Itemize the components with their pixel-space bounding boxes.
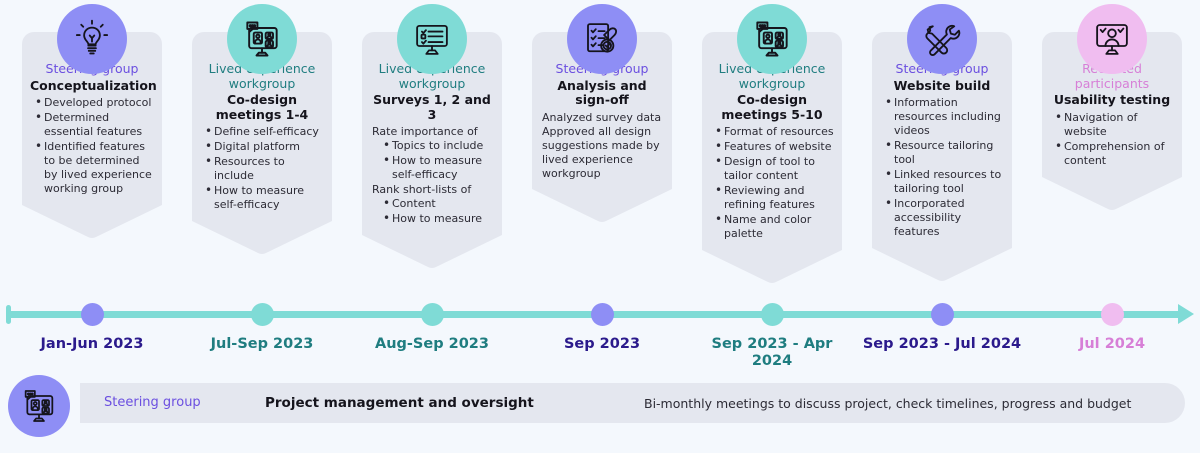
- stage-card-pointer: [192, 217, 332, 255]
- stage-lead-text-2: Rank short-lists of: [372, 183, 494, 197]
- list-item: Design of tool to tailor content: [724, 155, 834, 183]
- list-item: Linked resources to tailoring tool: [894, 168, 1004, 196]
- list-item: How to measure self-efficacy: [214, 184, 324, 212]
- stage-title: Analysis and sign-off: [540, 79, 664, 108]
- list-item: Information resources including videos: [894, 96, 1004, 138]
- stage-card-pointer: [22, 201, 162, 239]
- axis-dot-3: [421, 303, 444, 326]
- stage-1: Steering groupConceptualizationDeveloped…: [22, 0, 162, 300]
- stage-7: Recruited participantsUsability testingN…: [1042, 0, 1182, 300]
- date-label-5: Sep 2023 - Apr 2024: [692, 336, 852, 370]
- stage-cards-row: Steering groupConceptualizationDeveloped…: [0, 0, 1200, 300]
- list-item: Resources to include: [214, 155, 324, 183]
- list-item: Digital platform: [214, 140, 324, 154]
- stage-6: Steering groupWebsite buildInformation r…: [872, 0, 1012, 300]
- axis-dot-4: [591, 303, 614, 326]
- project-timeline-diagram: Steering groupConceptualizationDeveloped…: [0, 0, 1200, 453]
- stage-card-pointer: [872, 244, 1012, 282]
- stage-title: Conceptualization: [30, 79, 154, 94]
- timeline-axis: [0, 300, 1200, 328]
- tools-icon: [907, 4, 977, 74]
- checklist-monitor-icon: [397, 4, 467, 74]
- list-item: Determined essential features: [44, 111, 154, 139]
- stage-card-pointer: [702, 246, 842, 284]
- axis-dot-1: [81, 303, 104, 326]
- stage-5: Lived experience workgroupCo-design meet…: [702, 0, 842, 300]
- user-monitor-icon: [1077, 4, 1147, 74]
- video-meeting-icon: [737, 4, 807, 74]
- stage-4: Steering groupAnalysis and sign-offAnaly…: [532, 0, 672, 300]
- stage-title: Usability testing: [1050, 93, 1174, 108]
- list-item: Identified features to be determined by …: [44, 140, 154, 196]
- list-item: Name and color palette: [724, 213, 834, 241]
- stage-2: Lived experience workgroupCo-design meet…: [192, 0, 332, 300]
- date-label-1: Jan-Jun 2023: [12, 336, 172, 353]
- list-item: Features of website: [724, 140, 834, 154]
- stage-title: Co-design meetings 5-10: [710, 93, 834, 122]
- date-label-6: Sep 2023 - Jul 2024: [862, 336, 1022, 353]
- list-item: How to measure self-efficacy: [392, 154, 494, 182]
- date-label-2: Jul-Sep 2023: [182, 336, 342, 353]
- list-item: Developed protocol: [44, 96, 154, 110]
- axis-arrow-head: [1178, 304, 1194, 324]
- stage-title: Surveys 1, 2 and 3: [370, 93, 494, 122]
- date-label-4: Sep 2023: [522, 336, 682, 353]
- stage-lead-text: Approved all design suggestions made by …: [542, 125, 664, 181]
- stage-bullet-list: Topics to includeHow to measure self-eff…: [370, 139, 494, 182]
- list-item: Content: [392, 197, 494, 211]
- footer-title: Project management and oversight: [265, 395, 534, 411]
- lightbulb-icon: [57, 4, 127, 74]
- video-meeting-icon: [227, 4, 297, 74]
- stage-title: Website build: [880, 79, 1004, 94]
- stage-bullet-list: Format of resourcesFeatures of websiteDe…: [710, 125, 834, 241]
- stage-bullet-list: Navigation of websiteComprehension of co…: [1050, 111, 1174, 168]
- clipboard-stamp-icon: [567, 4, 637, 74]
- axis-dot-7: [1101, 303, 1124, 326]
- list-item: Define self-efficacy: [214, 125, 324, 139]
- stage-bullet-list-2: ContentHow to measure: [370, 197, 494, 226]
- axis-dot-5: [761, 303, 784, 326]
- stage-bullet-list: Define self-efficacyDigital platformReso…: [200, 125, 324, 212]
- axis-dot-6: [931, 303, 954, 326]
- date-label-3: Aug-Sep 2023: [352, 336, 512, 353]
- list-item: Reviewing and refining features: [724, 184, 834, 212]
- stage-lead-text: Analyzed survey data: [542, 111, 664, 125]
- stage-bullet-list: Information resources including videosRe…: [880, 96, 1004, 239]
- list-item: Format of resources: [724, 125, 834, 139]
- axis-dot-2: [251, 303, 274, 326]
- list-item: Topics to include: [392, 139, 494, 153]
- stage-card-pointer: [1042, 173, 1182, 211]
- stage-card-pointer: [532, 185, 672, 223]
- list-item: Comprehension of content: [1064, 140, 1174, 168]
- footer-group-label: Steering group: [104, 395, 201, 410]
- stage-3: Lived experience workgroupSurveys 1, 2 a…: [362, 0, 502, 300]
- stage-title: Co-design meetings 1-4: [200, 93, 324, 122]
- list-item: Navigation of website: [1064, 111, 1174, 139]
- stage-lead-text: Rate importance of: [372, 125, 494, 139]
- date-label-7: Jul 2024: [1032, 336, 1192, 353]
- list-item: How to measure: [392, 212, 494, 226]
- list-item: Resource tailoring tool: [894, 139, 1004, 167]
- footer-video-meeting-icon: [8, 375, 70, 437]
- stage-card-pointer: [362, 231, 502, 269]
- list-item: Incorporated accessibility features: [894, 197, 1004, 239]
- stage-bullet-list: Developed protocolDetermined essential f…: [30, 96, 154, 196]
- footer-description: Bi-monthly meetings to discuss project, …: [644, 396, 1131, 411]
